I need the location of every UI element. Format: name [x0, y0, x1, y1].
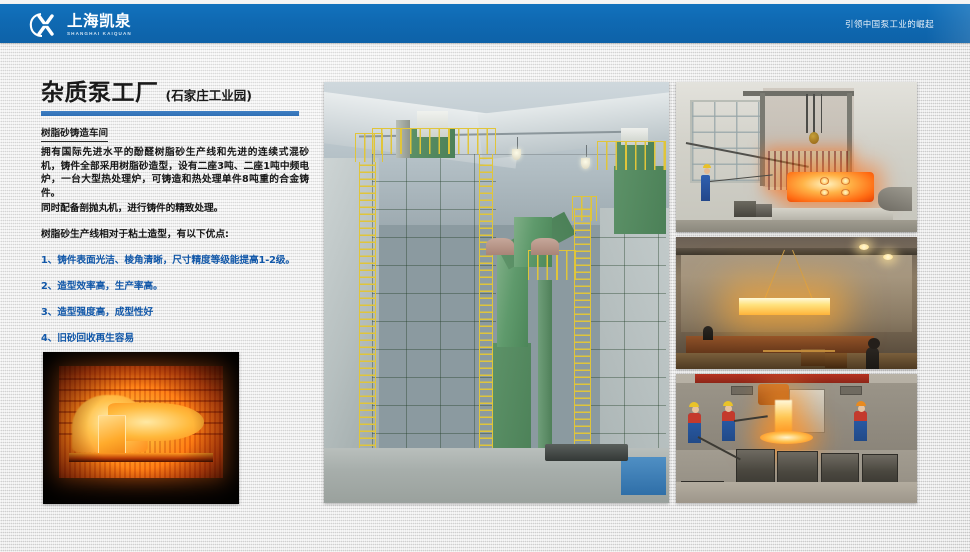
body-paragraph-1: 拥有国际先进水平的酚醛树脂砂生产线和先进的连续式混砂机，铸件全部采用树脂砂造型，… [41, 146, 309, 200]
crane-hook [809, 132, 819, 144]
worker2-torso [722, 411, 735, 421]
page-title-main: 杂质泵工厂 [41, 80, 159, 106]
lamp-stem-2 [586, 145, 587, 157]
hot-casting-block [787, 172, 874, 202]
wall-sign-right [840, 386, 862, 395]
duct-right [878, 187, 912, 211]
brand-logo[interactable]: 上海凯泉 SHANGHAI KAIQUAN [28, 10, 132, 40]
crane-cable-1 [806, 94, 807, 133]
handrail-foreground [763, 350, 835, 352]
glowing-hot-beam [739, 298, 831, 315]
sand-mixer-tower-main [372, 154, 496, 491]
workshop-window [690, 100, 762, 183]
ceiling-beam [676, 248, 917, 256]
crouching-worker [703, 326, 713, 340]
casting-bore-3 [820, 189, 830, 197]
red-exhaust-hood [695, 374, 869, 383]
right-tower-upper-body [614, 166, 666, 233]
advantages-lead-text: 树脂砂生产线相对于粘土造型，有以下优点: [41, 228, 313, 241]
molten-metal-splash [760, 431, 813, 444]
hall-rear-wall [681, 255, 912, 332]
advantage-item-1: 1、铸件表面光洁、棱角清晰，尺寸精度等级能提高1-2级。 [41, 254, 313, 267]
right-tower-railing-top [597, 141, 666, 170]
photo-furnace-interior [43, 352, 239, 504]
advantage-item-3: 3、造型强度高，成型性好 [41, 306, 313, 319]
logo-chinese-name: 上海凯泉 [67, 13, 132, 29]
foundry-doorway [789, 389, 825, 433]
floor-pipe [545, 444, 628, 461]
body-paragraph-2: 同时配备剖抛丸机，进行铸件的精致处理。 [41, 202, 309, 216]
furnace-dark-surround [43, 352, 239, 504]
casting-bore-4 [841, 189, 851, 197]
platform-railing-tower-top [372, 128, 496, 153]
center-platform-railing [528, 250, 576, 279]
dust-cover-left [486, 238, 514, 255]
ceiling-light-1 [859, 244, 869, 250]
tower-ladder-right [479, 154, 493, 474]
lamp-stem-1 [517, 137, 518, 149]
center-machine-chute [497, 255, 528, 348]
section-heading: 树脂砂铸造车间 [41, 128, 108, 142]
tower-ladder-left [359, 162, 376, 474]
casting-bore-1 [820, 177, 830, 185]
workshop-floor [676, 220, 917, 232]
hall-floor-lit [676, 353, 917, 369]
header-tagline: 引领中国泵工业的崛起 [845, 4, 934, 43]
worker1-helmet [689, 402, 699, 407]
photo-pouring [676, 374, 917, 503]
page-title: 杂质泵工厂 (石家庄工业园) [41, 80, 313, 106]
blue-machine-part [621, 457, 666, 495]
casting-bore-2 [841, 177, 851, 185]
crane-cable-2 [813, 94, 814, 133]
crane-column-left [760, 93, 765, 186]
worker3-helmet [856, 401, 866, 406]
page-header: 上海凯泉 SHANGHAI KAIQUAN 引领中国泵工业的崛起 [0, 4, 970, 43]
dust-cover-right [531, 238, 559, 255]
worker2-helmet [723, 401, 733, 406]
equipment-crate-1 [734, 201, 756, 218]
logo-english-name: SHANGHAI KAIQUAN [67, 30, 132, 37]
worker-body [701, 175, 710, 201]
slide-canvas: 上海凯泉 SHANGHAI KAIQUAN 引领中国泵工业的崛起 杂质泵工厂 (… [0, 0, 970, 552]
silhouette-worker-body [866, 347, 879, 369]
title-underline-bar [41, 111, 299, 116]
advantage-item-4: 4、旧砂回收再生容易 [41, 332, 313, 345]
wall-sign-left [731, 386, 753, 395]
right-tower-mid-railing [572, 196, 596, 221]
worker-helmet [703, 164, 711, 169]
content-text-column: 杂质泵工厂 (石家庄工业园) 树脂砂铸造车间 拥有国际先进水平的酚醛树脂砂生产线… [41, 80, 313, 345]
equipment-crate-2 [756, 204, 773, 218]
page-title-subtitle: (石家庄工业园) [166, 87, 252, 106]
mold-box-foreground-2 [825, 353, 847, 368]
worker-head [704, 168, 710, 174]
advantage-item-2: 2、造型效率高，生产率高。 [41, 280, 313, 293]
foundry-floor [676, 482, 917, 503]
photo-crane-lift [676, 237, 917, 369]
photo-furnace-hot-parts [676, 82, 917, 232]
logo-text-block: 上海凯泉 SHANGHAI KAIQUAN [67, 13, 132, 37]
worker3-torso [854, 411, 867, 421]
silhouette-worker-head [868, 338, 880, 349]
kaiquan-logo-icon [28, 11, 62, 39]
photo-factory-hall [324, 82, 669, 503]
worker1-head [692, 406, 699, 413]
crane-cable-3 [821, 94, 822, 133]
worker1-torso [688, 413, 701, 423]
